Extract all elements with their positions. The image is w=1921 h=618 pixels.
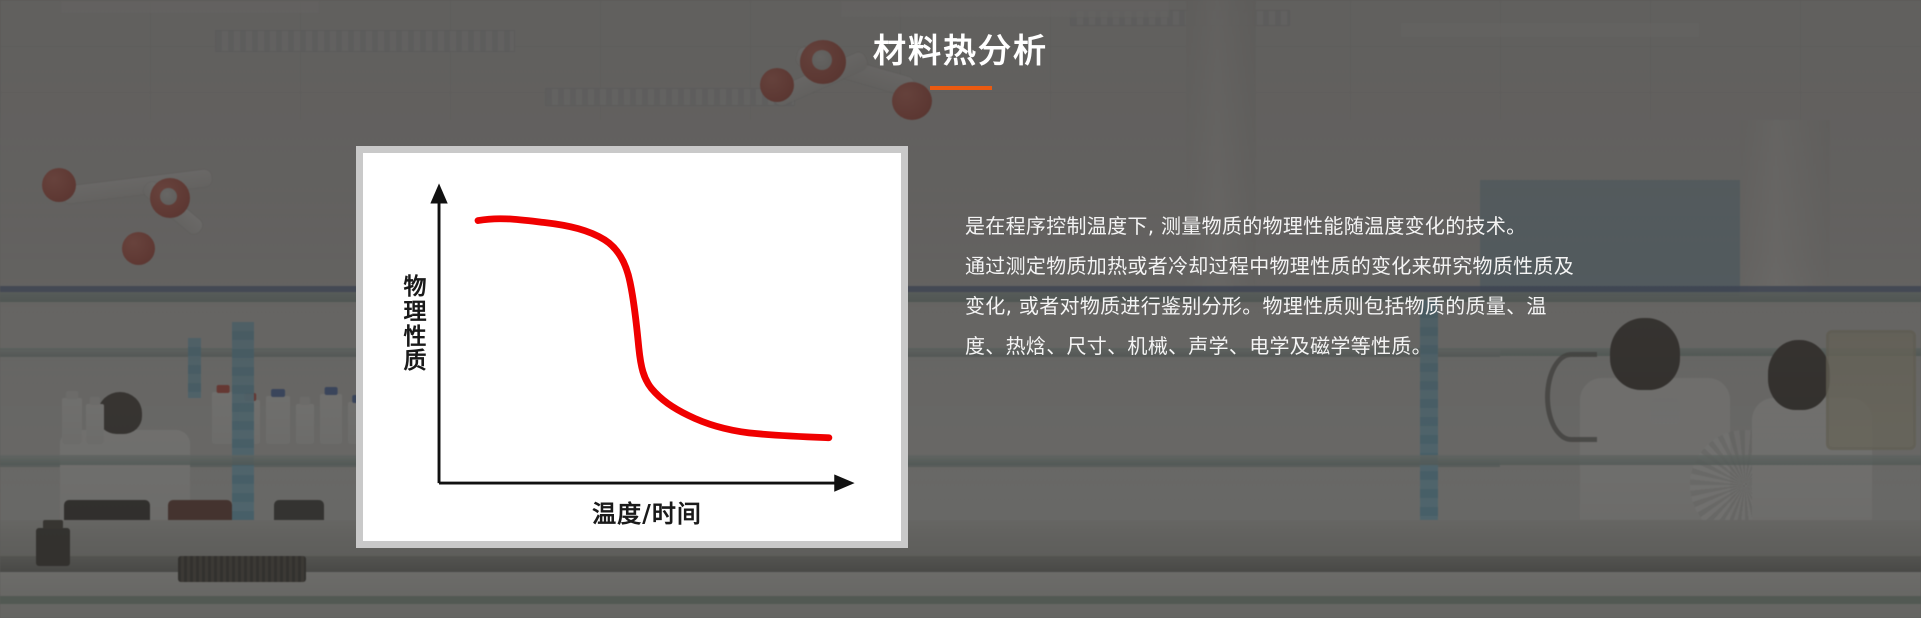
data-curve-line	[478, 219, 829, 438]
chart-inner: 物 理 性 质 温度/时间	[363, 153, 901, 541]
thermal-analysis-chart	[363, 153, 901, 541]
hero-banner: 材料热分析 物 理 性 质	[0, 0, 1921, 618]
y-axis-label: 物 理 性 质	[400, 275, 430, 374]
y-axis-label-char: 物	[400, 275, 430, 300]
description-paragraph: 是在程序控制温度下, 测量物质的物理性能随温度变化的技术。	[965, 206, 1575, 246]
description-block: 是在程序控制温度下, 测量物质的物理性能随温度变化的技术。 通过测定物质加热或者…	[965, 206, 1575, 366]
page-title: 材料热分析	[873, 34, 1048, 67]
y-axis-label-char: 性	[400, 325, 430, 350]
title-block: 材料热分析	[0, 34, 1921, 90]
y-axis-label-char: 理	[400, 300, 430, 325]
y-axis-label-char: 质	[400, 349, 430, 374]
title-accent-rule	[930, 86, 992, 90]
x-axis-label: 温度/时间	[363, 494, 901, 529]
background-lab-photo	[0, 0, 1921, 618]
description-paragraph: 通过测定物质加热或者冷却过程中物理性质的变化来研究物质性质及变化, 或者对物质进…	[965, 246, 1575, 366]
chart-card: 物 理 性 质 温度/时间	[356, 146, 908, 548]
background-dark-overlay	[0, 0, 1921, 618]
